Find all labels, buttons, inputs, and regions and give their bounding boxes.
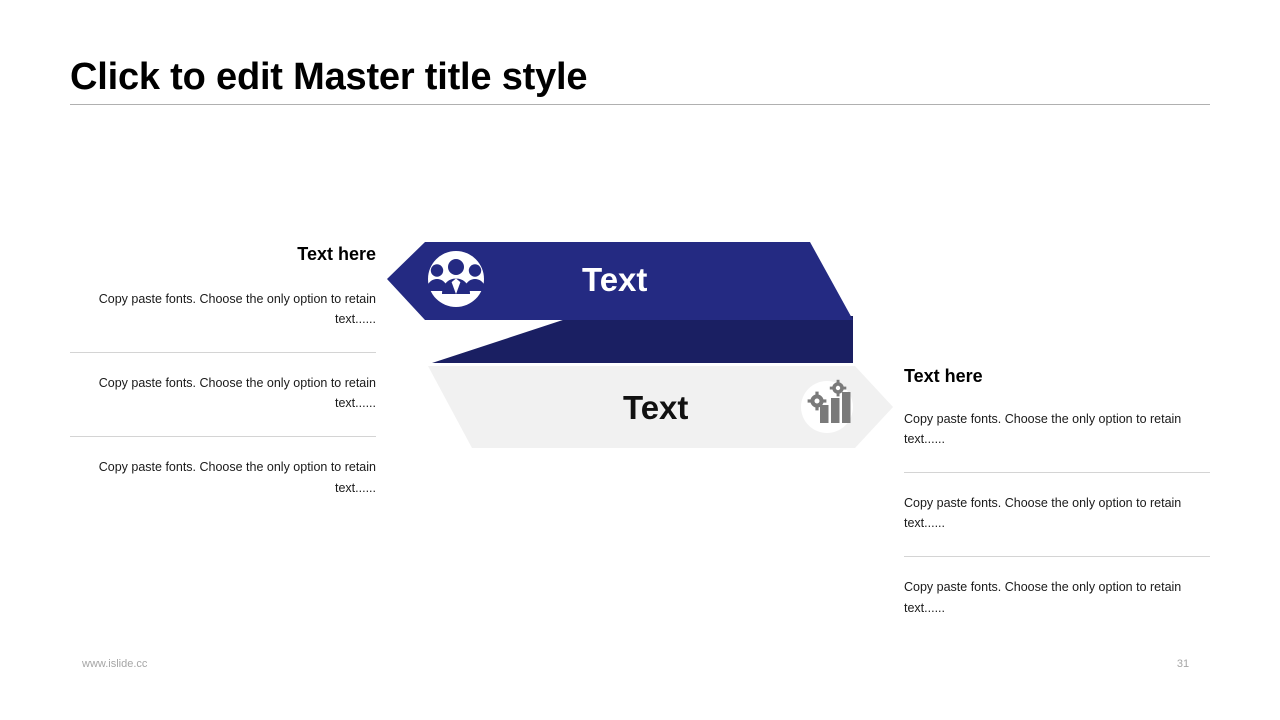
right-column-divider-2: [904, 556, 1210, 557]
footer-page-number: 31: [1160, 658, 1206, 670]
right-column-divider-1: [904, 472, 1210, 473]
title-underline-rule: [70, 104, 1210, 105]
right-column-paragraph-2: Copy paste fonts. Choose the only option…: [904, 493, 1210, 534]
left-column-paragraph-1: Copy paste fonts. Choose the only option…: [70, 289, 376, 330]
left-column-paragraph-2: Copy paste fonts. Choose the only option…: [70, 373, 376, 414]
top-banner-label: Text: [582, 263, 647, 296]
footer-website: www.islide.cc: [82, 658, 147, 670]
bottom-banner-label: Text: [623, 391, 688, 424]
right-column-paragraph-1: Copy paste fonts. Choose the only option…: [904, 409, 1210, 450]
page-title: Click to edit Master title style: [70, 56, 1210, 100]
center-banner-graphic: Text Text: [380, 228, 900, 468]
left-column-divider-1: [70, 352, 376, 353]
left-text-column: Text here Copy paste fonts. Choose the o…: [70, 244, 376, 498]
right-column-paragraph-3: Copy paste fonts. Choose the only option…: [904, 577, 1210, 618]
right-text-column: Text here Copy paste fonts. Choose the o…: [904, 366, 1210, 618]
slide-canvas: Click to edit Master title style Text he…: [0, 0, 1280, 720]
left-column-divider-2: [70, 436, 376, 437]
title-placeholder[interactable]: Click to edit Master title style: [70, 56, 1210, 100]
banner-shadow-band: [432, 316, 853, 363]
left-column-heading: Text here: [70, 244, 376, 266]
right-column-heading: Text here: [904, 366, 1210, 388]
left-column-paragraph-3: Copy paste fonts. Choose the only option…: [70, 457, 376, 498]
